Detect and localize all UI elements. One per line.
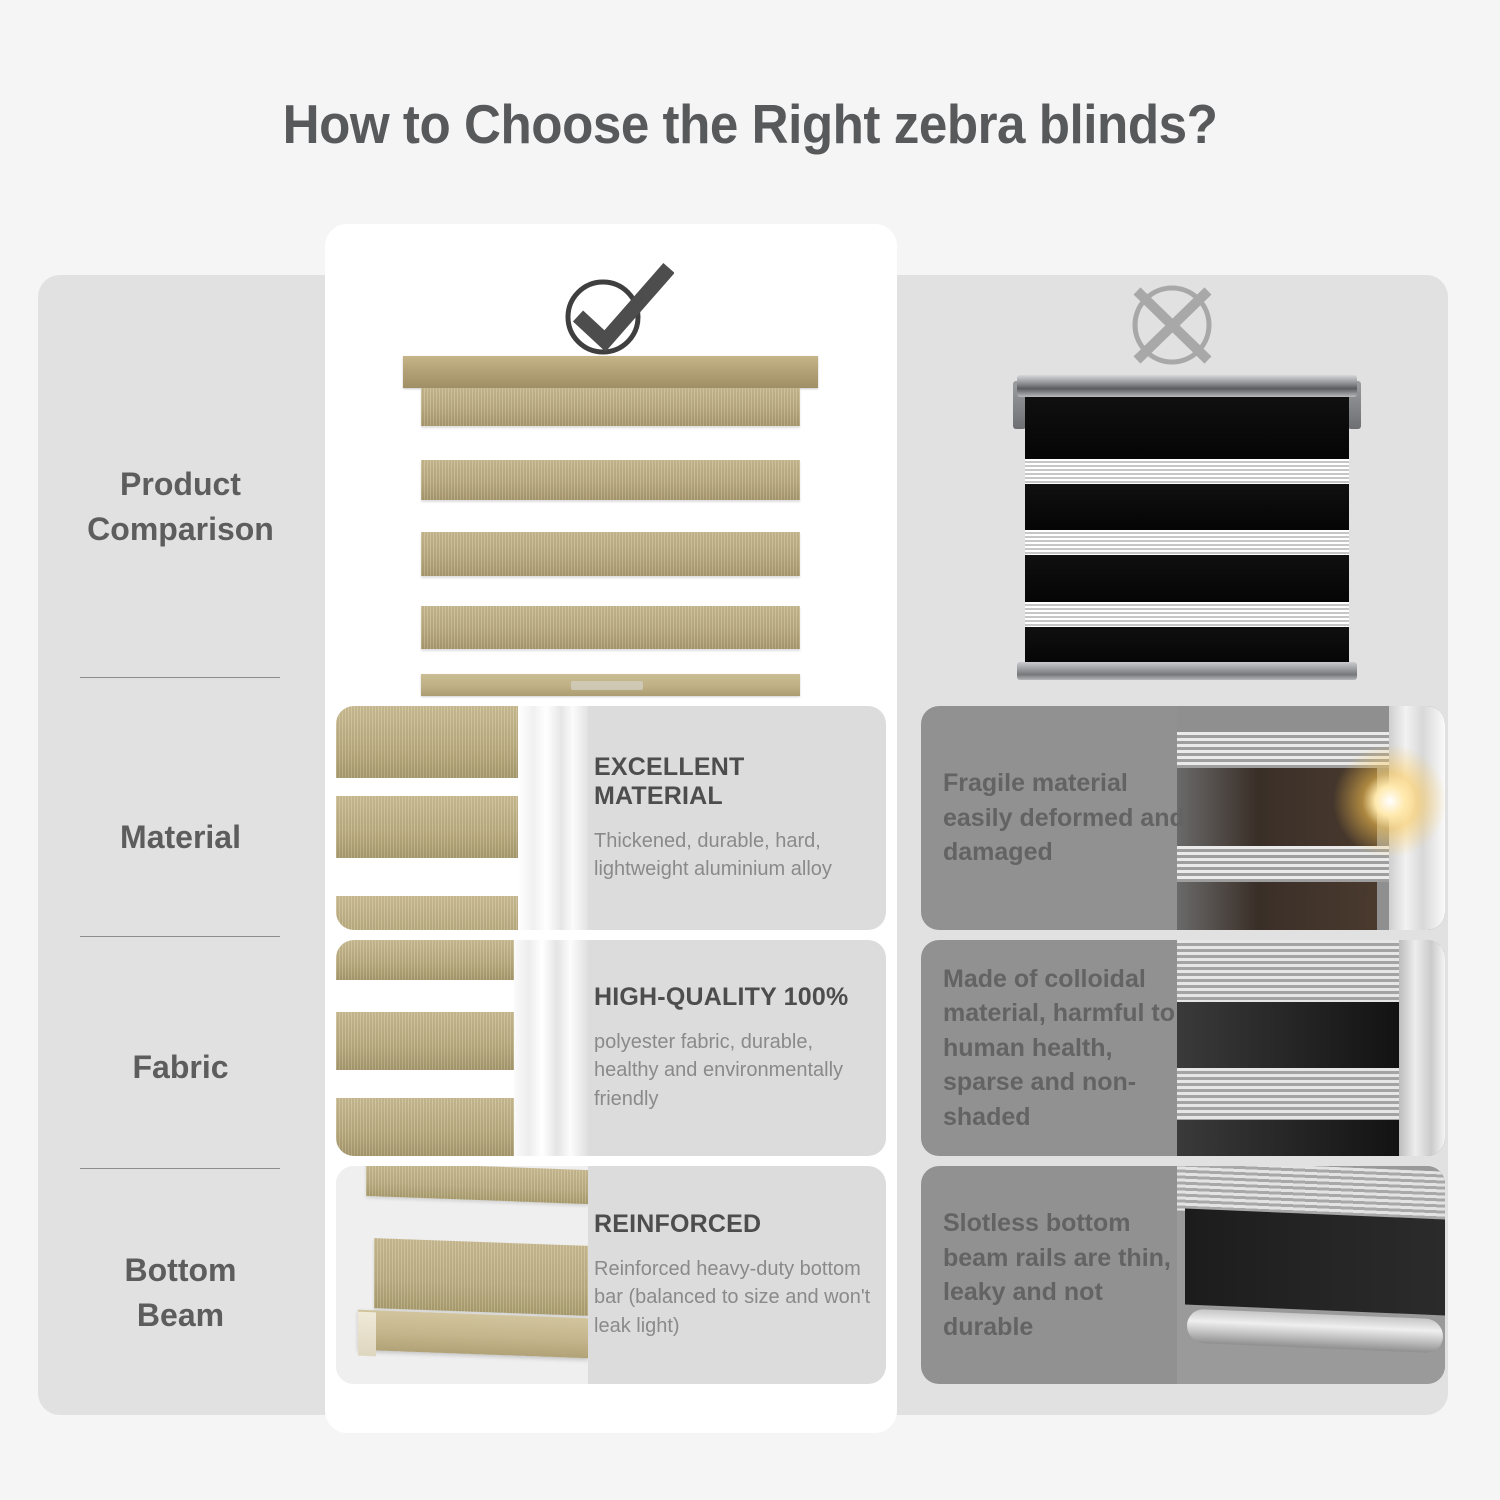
sidebar-item-fabric[interactable]: Fabric xyxy=(58,1045,303,1090)
sidebar-label-bottom-beam: BottomBeam xyxy=(125,1252,237,1333)
page-title: How to Choose the Right zebra blinds? xyxy=(53,92,1448,156)
feature-body: Thickened, durable, hard, lightweight al… xyxy=(594,827,872,884)
sidebar-item-bottom-beam[interactable]: BottomBeam xyxy=(58,1248,303,1339)
feature-text-block: Made of colloidal material, harmful to h… xyxy=(943,940,1198,1156)
blind-band xyxy=(336,1098,514,1156)
blind-headrail xyxy=(1017,375,1357,397)
sidebar-divider xyxy=(80,677,280,678)
bad-feature-text: Slotless bottom beam rails are thin, lea… xyxy=(943,1206,1198,1344)
window-frame xyxy=(1399,940,1445,1156)
blind-band xyxy=(374,1238,588,1316)
sidebar-label-material: Material xyxy=(120,819,241,855)
blind-sheer-band xyxy=(1025,530,1349,555)
tan-blind-material-closeup-image xyxy=(336,706,588,930)
tan-blind-fabric-closeup-image xyxy=(336,940,588,1156)
sidebar-divider xyxy=(80,936,280,937)
feature-text-block: Slotless bottom beam rails are thin, lea… xyxy=(943,1166,1198,1384)
blind-opaque-band xyxy=(1185,1209,1445,1316)
feature-text-block: HIGH-QUALITY 100% polyester fabric, dura… xyxy=(594,940,886,1156)
feature-heading: REINFORCED xyxy=(594,1210,872,1239)
sidebar-divider xyxy=(80,1168,280,1169)
good-feature-card-material: EXCELLENT MATERIAL Thickened, durable, h… xyxy=(336,706,886,930)
sparse-black-fabric-closeup-image xyxy=(1177,940,1445,1156)
tan-zebra-blind-image xyxy=(403,356,818,696)
blind-band xyxy=(421,606,800,649)
blind-bottom-rail xyxy=(1017,662,1357,680)
feature-text-block: EXCELLENT MATERIAL Thickened, durable, h… xyxy=(594,706,886,930)
reinforced-bottom-bar-closeup-image xyxy=(336,1166,588,1384)
window-frame xyxy=(518,706,588,930)
light-leak-flare xyxy=(1325,736,1445,866)
thin-bottom-rail xyxy=(1187,1309,1443,1354)
feature-body: polyester fabric, durable, healthy and e… xyxy=(594,1028,872,1113)
blind-band xyxy=(421,532,800,576)
feature-heading: EXCELLENT MATERIAL xyxy=(594,753,872,811)
sidebar-label-product-comparison: ProductComparison xyxy=(87,466,274,547)
bad-feature-card-bottom-beam: Slotless bottom beam rails are thin, lea… xyxy=(921,1166,1445,1384)
feature-body: Reinforced heavy-duty bottom bar (balanc… xyxy=(594,1255,872,1340)
reinforced-bottom-rail xyxy=(358,1310,588,1358)
blind-band xyxy=(336,1012,514,1070)
sidebar-item-product-comparison[interactable]: ProductComparison xyxy=(58,462,303,553)
blind-band xyxy=(421,388,800,426)
good-feature-card-bottom-beam: REINFORCED Reinforced heavy-duty bottom … xyxy=(336,1166,886,1384)
blind-band xyxy=(336,706,526,778)
blind-valance xyxy=(403,356,818,388)
blind-band xyxy=(336,896,526,930)
window-frame xyxy=(514,940,588,1156)
black-zebra-blind-image xyxy=(1013,375,1361,680)
blind-band xyxy=(336,796,526,858)
blind-band xyxy=(366,1166,588,1204)
feature-text-block: Fragile material easily deformed and dam… xyxy=(943,706,1198,930)
blind-opaque-band xyxy=(1177,1002,1407,1068)
feature-heading: HIGH-QUALITY 100% xyxy=(594,983,872,1012)
good-feature-card-fabric: HIGH-QUALITY 100% polyester fabric, dura… xyxy=(336,940,886,1156)
blind-opaque-band xyxy=(1025,627,1349,665)
bottom-rail-end-cap xyxy=(358,1312,376,1357)
deformed-blind-light-leak-image xyxy=(1177,706,1445,930)
blind-band xyxy=(421,460,800,500)
bad-feature-text: Made of colloidal material, harmful to h… xyxy=(943,962,1198,1135)
feature-text-block: REINFORCED Reinforced heavy-duty bottom … xyxy=(594,1166,886,1384)
sidebar-item-material[interactable]: Material xyxy=(58,815,303,860)
blind-sheer-band xyxy=(1025,602,1349,627)
blind-opaque-band xyxy=(1025,555,1349,602)
blind-opaque-band xyxy=(1177,1120,1407,1156)
blind-sheer-band xyxy=(1025,459,1349,484)
blind-opaque-band xyxy=(1025,484,1349,530)
bad-feature-text: Fragile material easily deformed and dam… xyxy=(943,766,1198,870)
x-circle-icon xyxy=(1120,275,1225,375)
sidebar-label-fabric: Fabric xyxy=(132,1049,228,1085)
check-circle-icon xyxy=(556,262,674,357)
slotless-thin-bottom-rail-closeup-image xyxy=(1177,1166,1445,1384)
blind-opaque-band xyxy=(1025,397,1349,459)
category-sidebar: ProductComparison Material Fabric Bottom… xyxy=(58,290,303,1400)
blind-grip xyxy=(571,681,643,690)
bad-feature-card-fabric: Made of colloidal material, harmful to h… xyxy=(921,940,1445,1156)
blind-band xyxy=(336,940,514,980)
bad-feature-card-material: Fragile material easily deformed and dam… xyxy=(921,706,1445,930)
blind-opaque-band xyxy=(1177,882,1377,930)
comparison-infographic: How to Choose the Right zebra blinds? Pr… xyxy=(0,0,1500,1500)
